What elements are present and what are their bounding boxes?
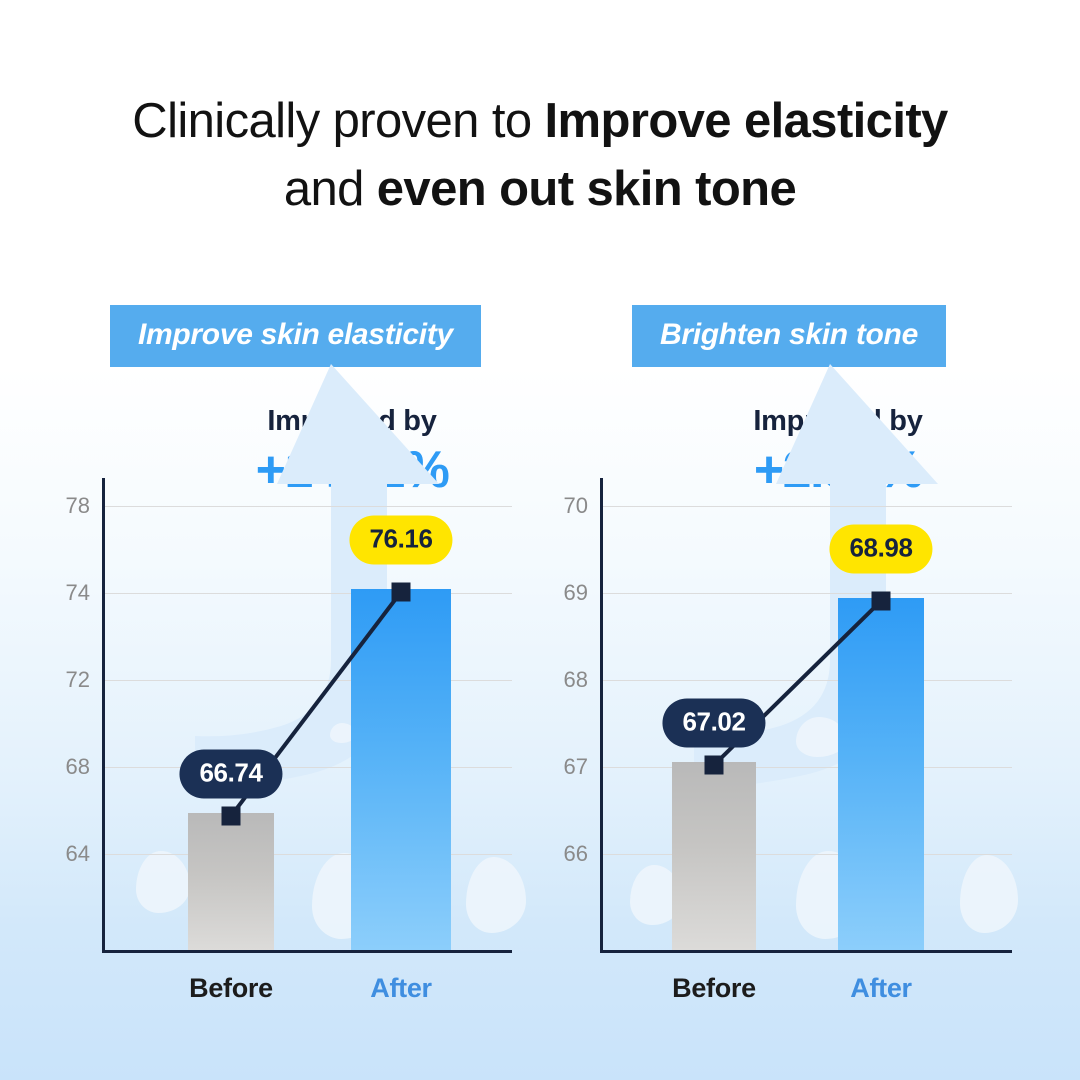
gridline (603, 506, 1012, 507)
value-pill-after-elasticity: 76.16 (349, 516, 452, 565)
chart-panel-elasticity: Improve skin elasticity Improved by +14.… (62, 305, 532, 367)
banner-wrap-elasticity: Improve skin elasticity (62, 305, 532, 367)
droplet-watermark-icon (136, 851, 190, 913)
bar-after-skintone (838, 598, 924, 950)
ytick-label: 64 (66, 841, 90, 867)
bar-before-skintone (672, 762, 756, 950)
value-pill-before-elasticity: 66.74 (179, 750, 282, 799)
headline-line-2: and even out skin tone (0, 156, 1080, 224)
xlabel-before-skintone: Before (672, 973, 756, 1004)
ytick-label: 69 (564, 580, 588, 606)
headline-line2-bold: even out skin tone (377, 162, 796, 216)
gridline (603, 767, 1012, 768)
gridline (603, 854, 1012, 855)
chart-title-elasticity: Improve skin elasticity (110, 305, 481, 367)
headline-line1-normal: Clinically proven to (132, 94, 544, 148)
gridline (603, 680, 1012, 681)
xlabel-after-skintone: After (850, 973, 912, 1004)
droplet-watermark-icon (466, 857, 526, 933)
ytick-label: 67 (564, 754, 588, 780)
y-axis-line (600, 478, 603, 953)
xlabel-after-elasticity: After (370, 973, 432, 1004)
droplet-watermark-icon (960, 855, 1018, 933)
ytick-label: 66 (564, 841, 588, 867)
value-pill-before-skintone: 67.02 (662, 699, 765, 748)
page-title: Clinically proven to Improve elasticity … (0, 88, 1080, 223)
ytick-label: 70 (564, 493, 588, 519)
chart-title-skintone: Brighten skin tone (632, 305, 946, 367)
x-axis-line (102, 950, 512, 953)
y-axis-line (102, 478, 105, 953)
plot-area-elasticity: 78 74 72 68 64 66.74 76.16 Before After (102, 478, 512, 953)
improved-label-elasticity: Improved by (202, 405, 502, 438)
headline-line1-bold: Improve elasticity (545, 94, 948, 148)
ytick-label: 78 (66, 493, 90, 519)
gridline (603, 593, 1012, 594)
value-pill-after-skintone: 68.98 (829, 525, 932, 574)
data-marker-before-skintone (705, 756, 724, 775)
ytick-label: 74 (66, 580, 90, 606)
data-marker-after-skintone (872, 592, 891, 611)
data-marker-before-elasticity (222, 807, 241, 826)
improved-label-skintone: Improved by (688, 405, 988, 438)
chart-panel-skintone: Brighten skin tone Improved by +2.92% 70… (560, 305, 1015, 367)
banner-wrap-skintone: Brighten skin tone (560, 305, 1015, 367)
x-axis-line (600, 950, 1012, 953)
ytick-label: 72 (66, 667, 90, 693)
bar-before-elasticity (188, 813, 274, 950)
ytick-label: 68 (564, 667, 588, 693)
headline-line2-normal: and (284, 162, 377, 216)
xlabel-before-elasticity: Before (189, 973, 273, 1004)
plot-area-skintone: 70 69 68 67 66 67.02 68.98 Before After (600, 478, 1012, 953)
ytick-label: 68 (66, 754, 90, 780)
data-marker-after-elasticity (392, 583, 411, 602)
gridline (105, 506, 512, 507)
headline-line-1: Clinically proven to Improve elasticity (0, 88, 1080, 156)
bar-after-elasticity (351, 589, 451, 950)
